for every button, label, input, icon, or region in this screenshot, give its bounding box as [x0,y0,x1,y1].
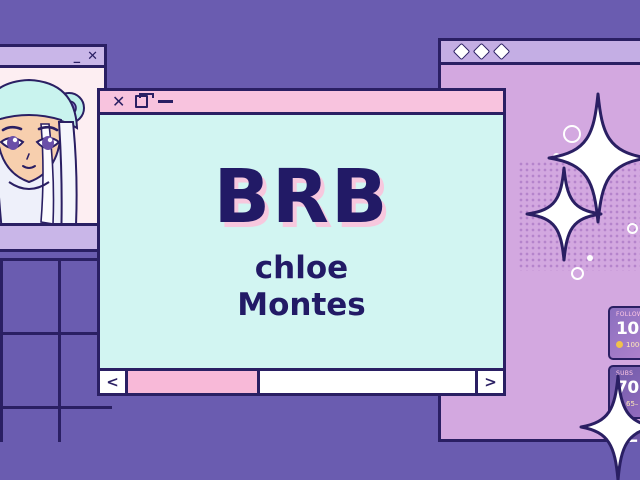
brb-headline: BRB [214,160,390,234]
character-window-body [0,68,104,223]
bottom-band [0,442,640,480]
stat-card-tag: FOLLOWERS [616,311,640,318]
character-window-footer [0,223,104,249]
circle-outline-decor [571,267,584,280]
stat-card-value: 10 [616,320,640,339]
streamer-name-last: Montes [237,287,366,324]
horizontal-scrollbar[interactable]: < > [100,368,503,393]
character-illustration [0,68,103,223]
scroll-right-button[interactable]: > [475,371,503,393]
scroll-left-button[interactable]: < [100,371,128,393]
overlay-stage: FOLLOWERS 10 1000– SUBS 70 65– DONOS 95 … [0,0,640,480]
minimize-icon[interactable] [158,100,173,103]
brb-window[interactable]: ✕ BRB chloe Montes < > [97,88,506,396]
restore-window-icon[interactable] [135,95,148,108]
stat-card-meta: 1000– [616,341,640,349]
stat-card-sub: 1000– [626,341,640,349]
streamer-name: chloe Montes [237,250,366,323]
close-icon[interactable]: ✕ [87,50,98,63]
sparkle-panel-titlebar [441,41,640,65]
brb-window-titlebar[interactable]: ✕ [100,91,503,115]
scrollbar-track[interactable] [128,371,475,393]
sparkle-star-small [518,168,602,260]
streamer-name-first: chloe [237,250,366,287]
diamond-icon [453,43,470,60]
circle-outline-decor [627,223,638,234]
diamond-icon [473,43,490,60]
sparkle-star-bottom [576,376,640,480]
character-window[interactable]: _ ✕ [0,44,107,252]
scrollbar-thumb[interactable] [128,371,260,393]
close-icon[interactable]: ✕ [112,94,125,110]
coin-icon [616,341,623,348]
brb-window-canvas: BRB chloe Montes [100,115,503,368]
stat-card[interactable]: FOLLOWERS 10 1000– [608,306,640,360]
minimize-icon[interactable]: _ [74,50,81,63]
diamond-icon [493,43,510,60]
character-window-titlebar[interactable]: _ ✕ [0,47,104,68]
